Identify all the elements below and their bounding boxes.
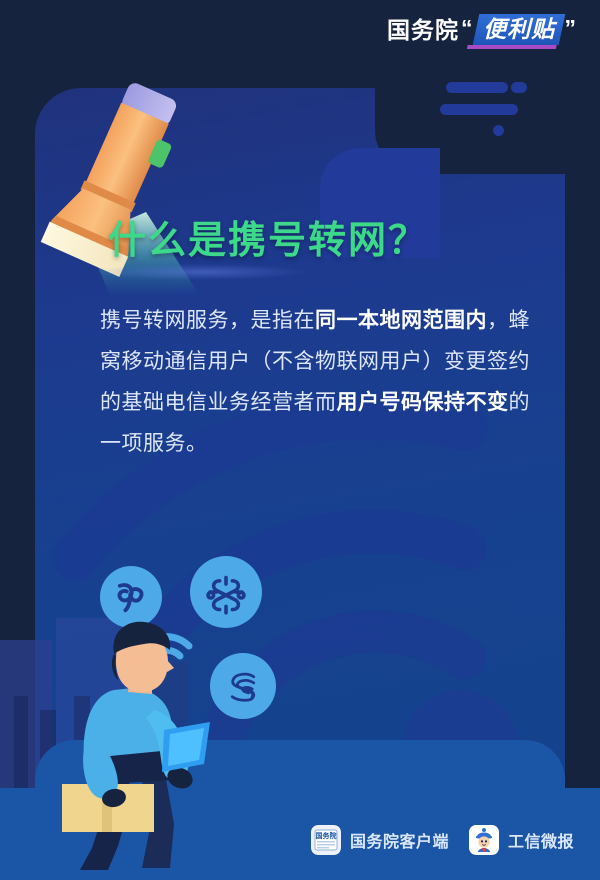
header-banner-label: 便利贴 (483, 15, 555, 43)
footer-label-miit: 工信微报 (508, 828, 574, 852)
footer-label-gov-app: 国务院客户端 (350, 828, 449, 852)
title-glow (96, 264, 306, 280)
infographic-canvas: 国务院 “ 便利贴 ” (0, 0, 600, 880)
page-title: 什么是携号转网？ (108, 216, 428, 266)
china-telecom-glyph (110, 576, 152, 618)
speed-line-1 (446, 82, 508, 93)
speed-line-3 (511, 82, 527, 93)
speed-line-2 (440, 104, 518, 115)
footer-item-miit[interactable]: 工信微报 (469, 825, 574, 855)
header: 国务院 “ 便利贴 ” (0, 0, 600, 68)
body-seg-1: 同一本地网范围内 (315, 309, 487, 332)
footer: 国务院 国务院客户端 (0, 818, 600, 862)
header-title-group: 国务院 “ 便利贴 ” (387, 14, 576, 45)
quote-close: ” (565, 13, 577, 43)
footer-item-gov-app[interactable]: 国务院 国务院客户端 (311, 825, 449, 855)
quote-open: “ (461, 13, 473, 43)
china-unicom-glyph (202, 568, 250, 616)
body-seg-3: 用户号码保持不变 (337, 391, 509, 414)
body-seg-0: 携号转网服务，是指在 (100, 309, 315, 332)
header-banner: 便利贴 (472, 14, 565, 45)
gov-app-icon-text: 国务院 (315, 831, 336, 840)
speed-dot (493, 125, 504, 136)
header-org-label: 国务院 (387, 15, 459, 45)
miit-mascot-icon (469, 825, 499, 855)
body-paragraph: 携号转网服务，是指在同一本地网范围内，蜂窝移动通信用户（不含物联网用户）变更签约… (100, 300, 542, 464)
gov-app-icon: 国务院 (311, 825, 341, 855)
